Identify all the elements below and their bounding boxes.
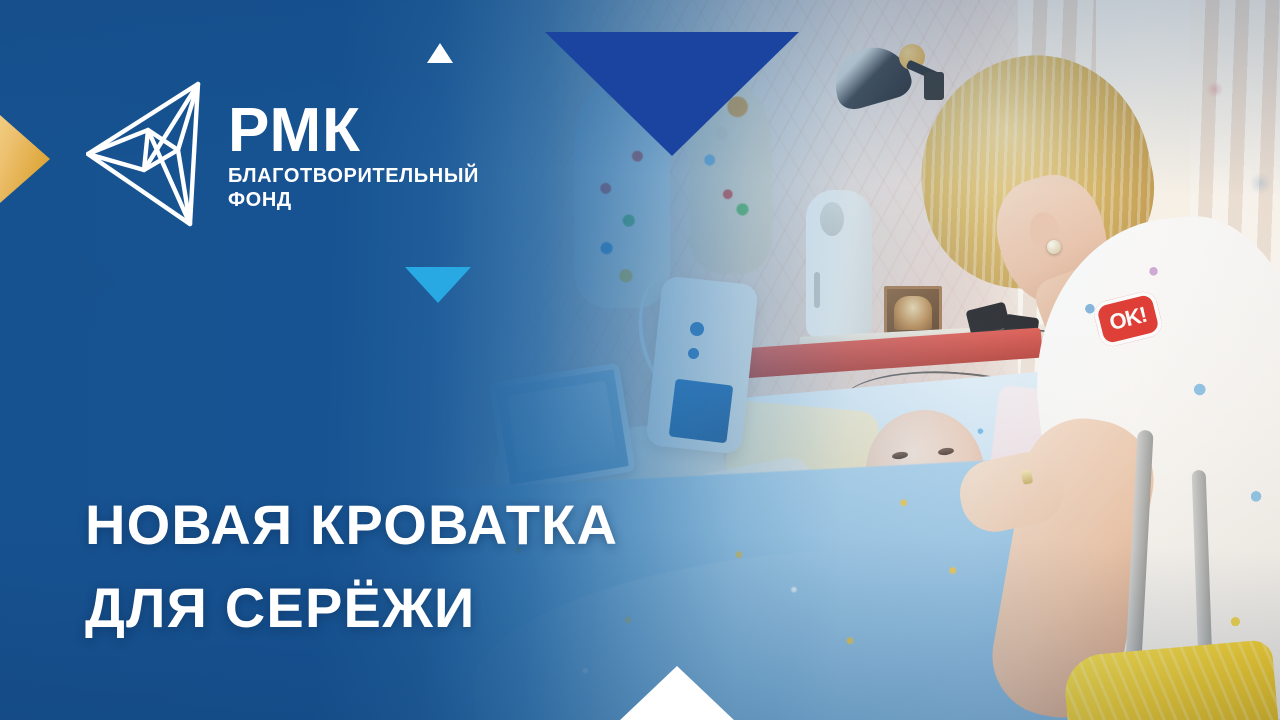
brand-logo: РМК БЛАГОТВОРИТЕЛЬНЫЙ ФОНД [86, 78, 479, 230]
brand-subtitle-line2: ФОНД [228, 189, 479, 213]
video-title-card: OK! [0, 0, 1280, 720]
title-line-2: ДЛЯ СЕРЁЖИ [85, 567, 618, 650]
title-line-1: НОВАЯ КРОВАТКА [85, 484, 618, 567]
rmk-tetrahedron-mark-icon [86, 78, 214, 230]
page-title: НОВАЯ КРОВАТКА ДЛЯ СЕРЁЖИ [85, 484, 618, 650]
brand-logo-text: РМК БЛАГОТВОРИТЕЛЬНЫЙ ФОНД [228, 96, 479, 212]
brand-subtitle-line1: БЛАГОТВОРИТЕЛЬНЫЙ [228, 165, 479, 189]
brand-name: РМК [228, 102, 479, 159]
